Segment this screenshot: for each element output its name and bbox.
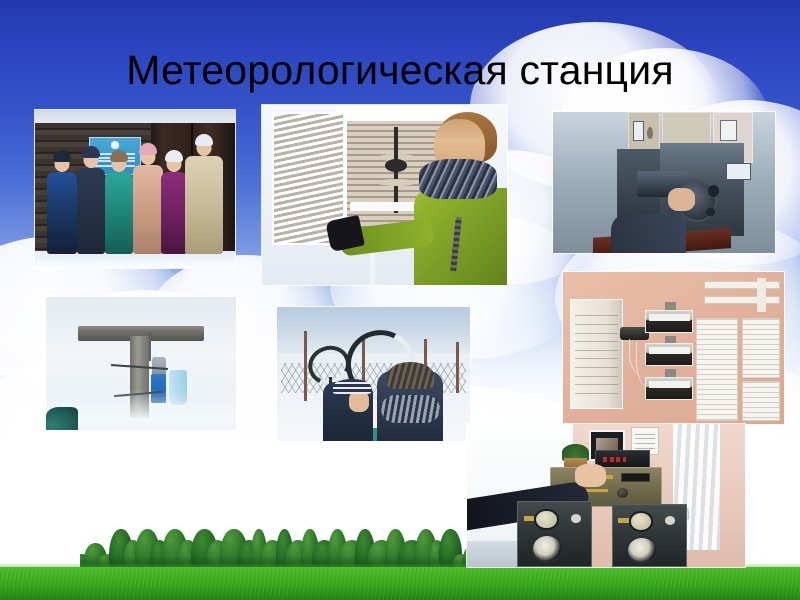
photo-desk-equipment[interactable] xyxy=(467,424,745,567)
child-figure xyxy=(77,168,105,253)
child-figure xyxy=(105,172,133,254)
observation-journal xyxy=(570,299,623,408)
grass-field xyxy=(0,567,800,600)
wall-shelf xyxy=(704,296,779,304)
wall-shelf xyxy=(704,281,779,289)
fence-pole xyxy=(456,342,459,393)
child-figure xyxy=(377,371,443,441)
recorder-instrument xyxy=(645,343,694,366)
photo-wall-mounted-instruments[interactable] xyxy=(563,272,784,424)
recorder-instrument xyxy=(645,377,694,400)
observer-hand xyxy=(668,188,695,211)
thermometer-bulb xyxy=(385,159,407,172)
child-figure xyxy=(185,156,223,254)
photo-snow-measuring-post[interactable] xyxy=(46,297,236,430)
instrument-unit xyxy=(517,501,592,567)
observer-hair xyxy=(557,120,641,253)
fur-collar xyxy=(419,159,497,199)
child-figure xyxy=(133,165,163,253)
instrument-unit xyxy=(612,504,687,567)
child-figure xyxy=(323,382,373,441)
photo-stevenson-screen[interactable] xyxy=(262,105,507,285)
recorder-instrument xyxy=(645,310,694,333)
wall-document xyxy=(742,381,780,421)
photo-instrument-operator[interactable] xyxy=(553,112,775,253)
child-figure xyxy=(161,172,187,254)
child-figure xyxy=(47,172,77,254)
slide-canvas: Метеорологическая станция xyxy=(0,0,800,600)
hanging-cord xyxy=(149,332,151,361)
photo-kids-at-station-building[interactable] xyxy=(35,110,235,268)
operator-hand xyxy=(575,464,606,487)
wall-document xyxy=(696,318,738,421)
tree-line xyxy=(80,512,475,570)
photo-heliograph-observation[interactable] xyxy=(277,307,470,441)
instrument-disc xyxy=(377,179,416,186)
wall-document xyxy=(742,318,780,379)
control-knob xyxy=(708,185,719,196)
slide-title: Метеорологическая станция xyxy=(40,46,760,94)
shelter-roof xyxy=(336,105,463,121)
analog-meter xyxy=(726,163,750,180)
fence-pole xyxy=(304,331,307,401)
foreground-object xyxy=(46,407,78,430)
shelf-bracket xyxy=(757,278,766,311)
